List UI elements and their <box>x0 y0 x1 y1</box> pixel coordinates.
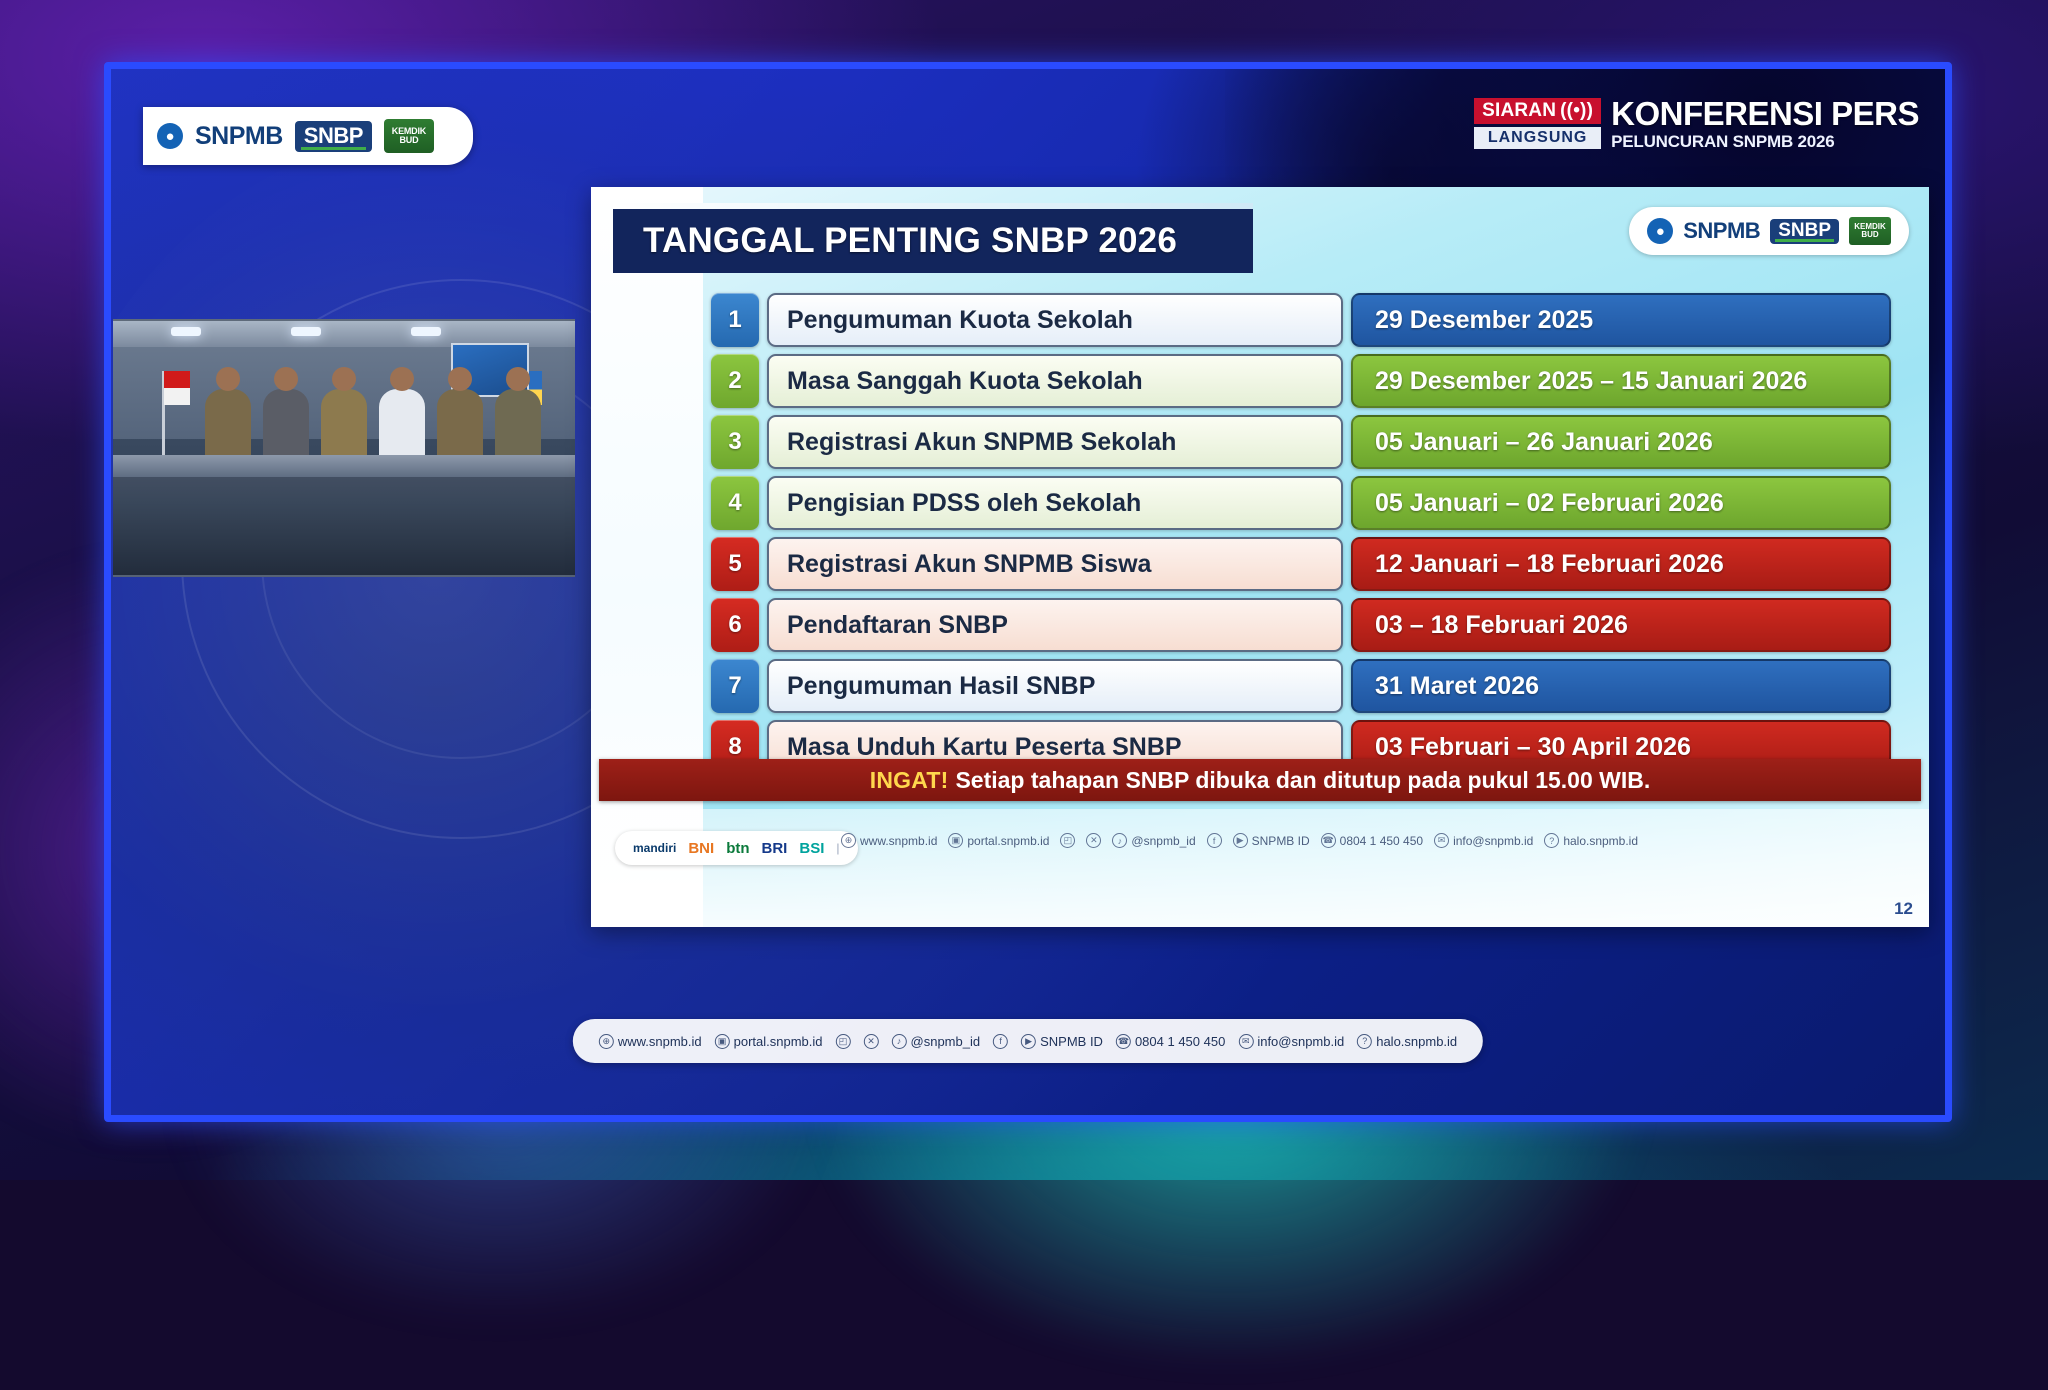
brand-snpmb-label: SNPMB <box>195 122 283 151</box>
footer-contact-text: 0804 1 450 450 <box>1135 1034 1225 1049</box>
footer-contact-text: @snpmb_id <box>1131 834 1195 848</box>
press-badge: SIARAN ((•)) LANGSUNG KONFERENSI PERS PE… <box>1474 97 1919 150</box>
press-title: KONFERENSI PERS <box>1611 97 1919 130</box>
langsung-label: LANGSUNG <box>1474 127 1601 149</box>
timeline-row-label: Masa Sanggah Kuota Sekolah <box>767 354 1343 408</box>
pip-ceiling-light <box>411 327 441 336</box>
notice-text: Setiap tahapan SNBP dibuka dan ditutup p… <box>955 767 1650 794</box>
footer-contact-item: ✉info@snpmb.id <box>1434 833 1533 848</box>
bank-logos-divider: | <box>836 841 839 855</box>
footer-bank-logos: mandiri BNI btn BRI BSI | <box>615 831 858 865</box>
footer-contact-text: www.snpmb.id <box>618 1034 702 1049</box>
ministry-logo-icon: KEMDIKBUD <box>384 119 434 153</box>
mail-icon: ✉ <box>1434 833 1449 848</box>
pip-person <box>321 389 367 463</box>
pip-person <box>437 389 483 463</box>
youtube-icon: ▶ <box>1233 833 1248 848</box>
footer-contact-item: ▶SNPMB ID <box>1233 833 1310 848</box>
timeline-row-date: 12 Januari – 18 Februari 2026 <box>1351 537 1891 591</box>
help-icon: ? <box>1357 1034 1372 1049</box>
footer-contact-item: f <box>993 1034 1008 1049</box>
footer-contact-item: ◰ <box>836 1034 851 1049</box>
pip-person <box>205 389 251 463</box>
footer-contact-item: f <box>1207 833 1222 848</box>
slide-title: TANGGAL PENTING SNBP 2026 <box>643 221 1177 261</box>
timeline-row-number: 3 <box>711 415 759 469</box>
facebook-icon: f <box>1207 833 1222 848</box>
phone-icon: ☎ <box>1116 1034 1131 1049</box>
snpmb-circle-icon: ● <box>1647 218 1673 244</box>
footer-contact-item: ?halo.snpmb.id <box>1357 1034 1457 1049</box>
timeline-row-date: 31 Maret 2026 <box>1351 659 1891 713</box>
bank-logo-bni: BNI <box>688 840 714 857</box>
phone-icon: ☎ <box>1321 833 1336 848</box>
footer-contact-text: @snpmb_id <box>911 1034 981 1049</box>
timeline-row-number: 1 <box>711 293 759 347</box>
footer-contact-text: info@snpmb.id <box>1453 834 1533 848</box>
timeline-row-date: 03 – 18 Februari 2026 <box>1351 598 1891 652</box>
slide-title-ribbon: TANGGAL PENTING SNBP 2026 <box>613 209 1253 273</box>
instagram-icon: ◰ <box>1060 833 1075 848</box>
timeline-row-date: 05 Januari – 02 Februari 2026 <box>1351 476 1891 530</box>
pip-person <box>379 389 425 463</box>
brand-snbp-chip: SNBP <box>295 121 372 152</box>
footer-contact-text: portal.snpmb.id <box>734 1034 823 1049</box>
live-signal-icon: ((•)) <box>1560 100 1593 122</box>
timeline-row-label: Pengumuman Hasil SNBP <box>767 659 1343 713</box>
timeline-row: 7Pengumuman Hasil SNBP31 Maret 2026 <box>711 659 1891 713</box>
facebook-icon: f <box>993 1034 1008 1049</box>
footer-contact-item: ♪@snpmb_id <box>892 1034 981 1049</box>
notice-keyword: INGAT! <box>870 767 949 794</box>
globe-icon: ⊕ <box>599 1034 614 1049</box>
press-badge-right: KONFERENSI PERS PELUNCURAN SNPMB 2026 <box>1611 97 1919 150</box>
slide-logo-snbp-chip: SNBP <box>1770 219 1839 244</box>
x-twitter-icon: ✕ <box>864 1034 879 1049</box>
timeline-row-number: 5 <box>711 537 759 591</box>
footer-contact-item: ✕ <box>864 1034 879 1049</box>
footer-contact-text: info@snpmb.id <box>1257 1034 1344 1049</box>
window-icon: ▣ <box>715 1034 730 1049</box>
timeline-row-label: Pengumuman Kuota Sekolah <box>767 293 1343 347</box>
slide-logo-lockup: ● SNPMB SNBP KEMDIKBUD <box>1629 207 1909 255</box>
bank-logo-bsi: BSI <box>799 840 824 857</box>
pip-ceiling-light <box>171 327 201 336</box>
notice-banner: INGAT! Setiap tahapan SNBP dibuka dan di… <box>599 759 1921 801</box>
bank-logo-mandiri: mandiri <box>633 841 676 855</box>
pip-person <box>495 389 541 463</box>
footer-contact-item: ⊕www.snpmb.id <box>599 1034 702 1049</box>
bank-logo-btn: btn <box>726 840 749 857</box>
press-subtitle: PELUNCURAN SNPMB 2026 <box>1611 133 1919 150</box>
footer-contact-text: SNPMB ID <box>1040 1034 1103 1049</box>
timeline-row-number: 4 <box>711 476 759 530</box>
pip-flag-indonesia <box>157 371 173 457</box>
footer-contact-item: ♪@snpmb_id <box>1112 833 1195 848</box>
timeline-row-date: 05 Januari – 26 Januari 2026 <box>1351 415 1891 469</box>
tiktok-icon: ♪ <box>892 1034 907 1049</box>
timeline-row: 5Registrasi Akun SNPMB Siswa12 Januari –… <box>711 537 1891 591</box>
slide-page-number: 12 <box>1894 899 1913 919</box>
footer-contact-item: ▶SNPMB ID <box>1021 1034 1103 1049</box>
press-badge-left: SIARAN ((•)) LANGSUNG <box>1474 98 1601 149</box>
footer-contact-item: ✉info@snpmb.id <box>1238 1034 1344 1049</box>
timeline-row: 6Pendaftaran SNBP03 – 18 Februari 2026 <box>711 598 1891 652</box>
timeline-row-date: 29 Desember 2025 – 15 Januari 2026 <box>1351 354 1891 408</box>
globe-icon: ⊕ <box>841 833 856 848</box>
x-twitter-icon: ✕ <box>1086 833 1101 848</box>
footer-contact-item: ▣portal.snpmb.id <box>948 833 1049 848</box>
pip-speaker-video[interactable] <box>113 319 575 577</box>
timeline-row-number: 7 <box>711 659 759 713</box>
timeline-row-number: 6 <box>711 598 759 652</box>
timeline-row-label: Pengisian PDSS oleh Sekolah <box>767 476 1343 530</box>
brand-bar: ● SNPMB SNBP KEMDIKBUD <box>143 107 473 165</box>
slide-footer: mandiri BNI btn BRI BSI | ⊕www.snpmb.id▣… <box>591 809 1929 927</box>
footer-contact-item: ⊕www.snpmb.id <box>841 833 937 848</box>
footer-contact-item: ☎0804 1 450 450 <box>1321 833 1423 848</box>
youtube-icon: ▶ <box>1021 1034 1036 1049</box>
timeline-row-label: Registrasi Akun SNPMB Sekolah <box>767 415 1343 469</box>
footer-contact-text: halo.snpmb.id <box>1563 834 1638 848</box>
footer-contact-item: ▣portal.snpmb.id <box>715 1034 823 1049</box>
mail-icon: ✉ <box>1238 1034 1253 1049</box>
footer-contact-text: portal.snpmb.id <box>967 834 1049 848</box>
pip-table <box>113 455 575 575</box>
timeline-row-number: 2 <box>711 354 759 408</box>
timeline-row-label: Registrasi Akun SNPMB Siswa <box>767 537 1343 591</box>
instagram-icon: ◰ <box>836 1034 851 1049</box>
timeline-row: 4Pengisian PDSS oleh Sekolah05 Januari –… <box>711 476 1891 530</box>
video-player-frame[interactable]: ● SNPMB SNBP KEMDIKBUD SIARAN ((•)) LANG… <box>104 62 1952 1122</box>
slide-logo-snpmb-label: SNPMB <box>1683 218 1760 244</box>
footer-contact-item: ◰ <box>1060 833 1075 848</box>
siaran-label: SIARAN ((•)) <box>1474 98 1601 124</box>
help-icon: ? <box>1544 833 1559 848</box>
slide-ministry-logo-icon: KEMDIKBUD <box>1849 217 1891 245</box>
presentation-slide: TANGGAL PENTING SNBP 2026 ● SNPMB SNBP K… <box>591 187 1929 927</box>
timeline-row: 1Pengumuman Kuota Sekolah29 Desember 202… <box>711 293 1891 347</box>
tiktok-icon: ♪ <box>1112 833 1127 848</box>
timeline-row: 2Masa Sanggah Kuota Sekolah29 Desember 2… <box>711 354 1891 408</box>
footer-contact-text: SNPMB ID <box>1252 834 1310 848</box>
timeline-row-label: Pendaftaran SNBP <box>767 598 1343 652</box>
timeline-row: 3Registrasi Akun SNPMB Sekolah05 Januari… <box>711 415 1891 469</box>
footer-contacts: ⊕www.snpmb.id▣portal.snpmb.id◰✕♪@snpmb_i… <box>841 833 1905 848</box>
timeline-row-date: 29 Desember 2025 <box>1351 293 1891 347</box>
timeline-table: 1Pengumuman Kuota Sekolah29 Desember 202… <box>711 293 1891 774</box>
window-icon: ▣ <box>948 833 963 848</box>
footer-contact-text: 0804 1 450 450 <box>1340 834 1423 848</box>
siaran-text: SIARAN <box>1482 100 1556 122</box>
footer-contact-item: ☎0804 1 450 450 <box>1116 1034 1225 1049</box>
pip-ceiling-light <box>291 327 321 336</box>
pip-person <box>263 389 309 463</box>
broadcast-contact-pill: ⊕www.snpmb.id▣portal.snpmb.id◰✕♪@snpmb_i… <box>573 1019 1483 1063</box>
footer-contact-text: halo.snpmb.id <box>1376 1034 1457 1049</box>
video-stage[interactable]: ● SNPMB SNBP KEMDIKBUD SIARAN ((•)) LANG… <box>111 69 1945 1115</box>
footer-contact-item: ?halo.snpmb.id <box>1544 833 1638 848</box>
footer-contact-text: www.snpmb.id <box>860 834 937 848</box>
snpmb-circle-icon: ● <box>157 123 183 149</box>
footer-contact-item: ✕ <box>1086 833 1101 848</box>
bank-logo-bri: BRI <box>762 840 788 857</box>
